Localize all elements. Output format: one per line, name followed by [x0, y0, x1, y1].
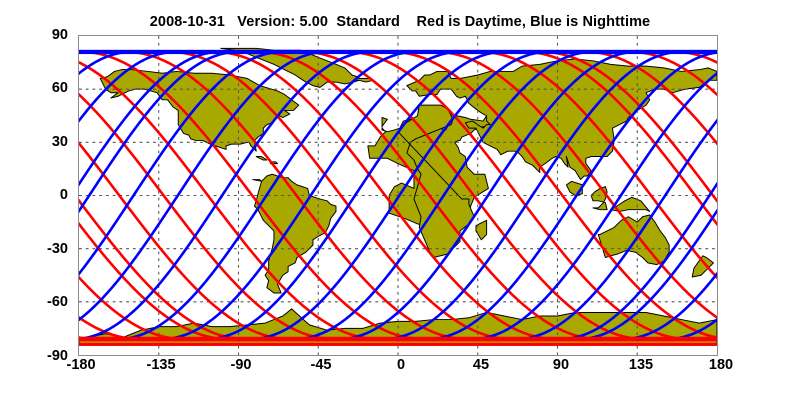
x-tick-label: 45: [451, 358, 511, 373]
x-tick-label: 180: [691, 358, 751, 373]
ground-track-figure: 2008-10-31 Version: 5.00 Standard Red is…: [0, 0, 800, 400]
y-tick-label: -60: [22, 295, 68, 310]
y-tick-label: 90: [22, 28, 68, 43]
x-tick-label: -180: [51, 358, 111, 373]
plot-area: [78, 35, 718, 356]
plot-svg: [79, 36, 717, 355]
y-tick-label: 60: [22, 81, 68, 96]
x-tick-label: -90: [211, 358, 271, 373]
chart-title: 2008-10-31 Version: 5.00 Standard Red is…: [0, 14, 800, 30]
x-tick-label: 0: [371, 358, 431, 373]
y-tick-label: -30: [22, 242, 68, 257]
x-tick-label: -45: [291, 358, 351, 373]
daytime-polar-band: [79, 343, 717, 346]
y-tick-label: 0: [22, 188, 68, 203]
x-tick-label: 90: [531, 358, 591, 373]
daytime-polar-band: [79, 337, 717, 342]
x-tick-label: 135: [611, 358, 671, 373]
nighttime-polar-band: [79, 50, 717, 54]
x-tick-label: -135: [131, 358, 191, 373]
y-tick-label: 30: [22, 135, 68, 150]
